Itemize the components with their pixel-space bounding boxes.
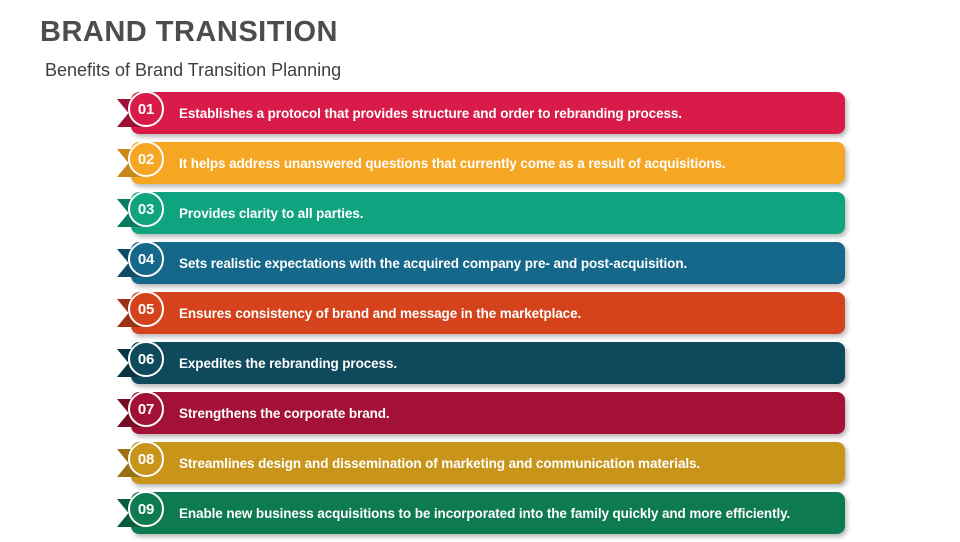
step-number-label: 06 xyxy=(138,352,154,367)
step-number-label: 08 xyxy=(138,452,154,467)
benefit-text: Ensures consistency of brand and message… xyxy=(179,292,840,334)
list-item[interactable]: 02It helps address unanswered questions … xyxy=(0,142,960,184)
step-number-badge: 06 xyxy=(128,341,164,377)
step-number-badge: 02 xyxy=(128,141,164,177)
step-number-label: 09 xyxy=(138,502,154,517)
step-number-label: 02 xyxy=(138,152,154,167)
step-number-label: 05 xyxy=(138,302,154,317)
benefit-text: Enable new business acquisitions to be i… xyxy=(179,492,840,534)
benefit-text: Provides clarity to all parties. xyxy=(179,192,840,234)
step-number-badge: 05 xyxy=(128,291,164,327)
benefit-text: Expedites the rebranding process. xyxy=(179,342,840,384)
step-number-badge: 07 xyxy=(128,391,164,427)
list-item[interactable]: 09Enable new business acquisitions to be… xyxy=(0,492,960,534)
step-number-label: 07 xyxy=(138,402,154,417)
list-item[interactable]: 01Establishes a protocol that provides s… xyxy=(0,92,960,134)
step-number-badge: 01 xyxy=(128,91,164,127)
list-item[interactable]: 06Expedites the rebranding process. xyxy=(0,342,960,384)
benefits-list: 01Establishes a protocol that provides s… xyxy=(0,92,960,542)
step-number-badge: 08 xyxy=(128,441,164,477)
step-number-label: 04 xyxy=(138,252,154,267)
slide-header: BRAND TRANSITION Benefits of Brand Trans… xyxy=(40,14,920,82)
benefit-text: Establishes a protocol that provides str… xyxy=(179,92,840,134)
list-item[interactable]: 03Provides clarity to all parties. xyxy=(0,192,960,234)
list-item[interactable]: 07Strengthens the corporate brand. xyxy=(0,392,960,434)
page-subtitle: Benefits of Brand Transition Planning xyxy=(45,58,920,82)
list-item[interactable]: 05Ensures consistency of brand and messa… xyxy=(0,292,960,334)
step-number-badge: 04 xyxy=(128,241,164,277)
step-number-badge: 09 xyxy=(128,491,164,527)
benefit-text: Sets realistic expectations with the acq… xyxy=(179,242,840,284)
slide-canvas: BRAND TRANSITION Benefits of Brand Trans… xyxy=(0,0,960,540)
benefit-text: Strengthens the corporate brand. xyxy=(179,392,840,434)
step-number-label: 03 xyxy=(138,202,154,217)
page-title: BRAND TRANSITION xyxy=(40,14,920,50)
list-item[interactable]: 04Sets realistic expectations with the a… xyxy=(0,242,960,284)
step-number-badge: 03 xyxy=(128,191,164,227)
benefit-text: It helps address unanswered questions th… xyxy=(179,142,840,184)
list-item[interactable]: 08Streamlines design and dissemination o… xyxy=(0,442,960,484)
benefit-text: Streamlines design and dissemination of … xyxy=(179,442,840,484)
step-number-label: 01 xyxy=(138,102,154,117)
